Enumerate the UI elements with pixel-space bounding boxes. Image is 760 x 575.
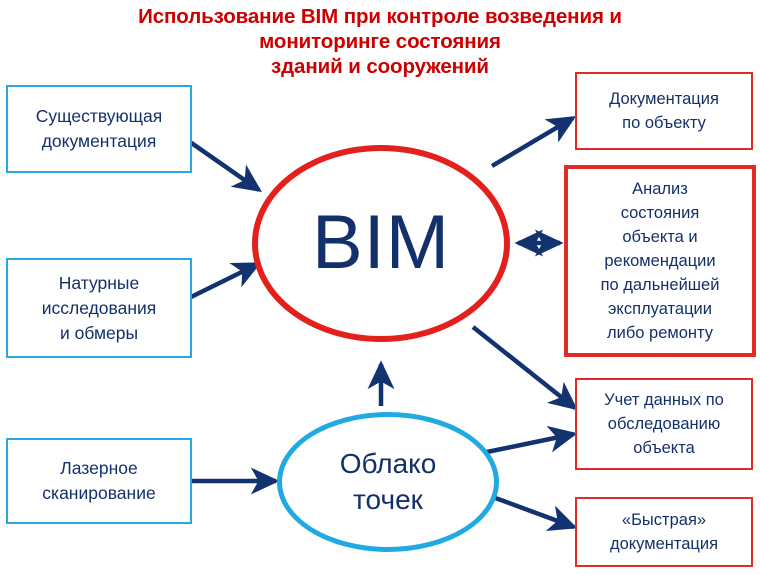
title-line-1: Использование BIM при контроле возведени… <box>60 4 700 29</box>
input-box-laser-scanning-label: Лазерное сканирование <box>42 456 155 506</box>
output-box-object-documentation-label: Документация по объекту <box>609 87 719 135</box>
page-title: Использование BIM при контроле возведени… <box>60 4 700 79</box>
output-box-condition-analysis-label: Анализ состояния объекта и рекомендации … <box>601 177 720 345</box>
output-box-survey-data-accounting-label: Учет данных по обследованию объекта <box>604 388 724 460</box>
arrow-bim-to-survey-data <box>473 327 575 408</box>
output-box-object-documentation[interactable]: Документация по объекту <box>575 72 753 150</box>
arrow-cloud-to-quick-documentation <box>490 496 574 527</box>
input-box-field-research[interactable]: Натурные исследования и обмеры <box>6 258 192 358</box>
arrow-cloud-to-survey-data <box>487 434 574 452</box>
output-box-quick-documentation-label: «Быстрая» документация <box>610 508 718 556</box>
central-node-bim-label: BIM <box>312 205 450 281</box>
input-box-existing-documentation-label: Существующая документация <box>36 104 162 154</box>
output-box-survey-data-accounting[interactable]: Учет данных по обследованию объекта <box>575 378 753 470</box>
arrow-existing-docs-to-bim <box>190 142 259 190</box>
central-node-bim[interactable]: BIM <box>252 145 510 342</box>
input-box-field-research-label: Натурные исследования и обмеры <box>42 271 157 346</box>
node-point-cloud-label: Облако точек <box>340 446 437 518</box>
output-box-condition-analysis[interactable]: Анализ состояния объекта и рекомендации … <box>564 165 756 357</box>
input-box-existing-documentation[interactable]: Существующая документация <box>6 85 192 173</box>
diagram-canvas: Использование BIM при контроле возведени… <box>0 0 760 575</box>
output-box-quick-documentation[interactable]: «Быстрая» документация <box>575 497 753 567</box>
input-box-laser-scanning[interactable]: Лазерное сканирование <box>6 438 192 524</box>
arrow-field-research-to-bim <box>191 264 258 297</box>
arrow-bim-to-object-documentation <box>492 118 573 166</box>
node-point-cloud[interactable]: Облако точек <box>277 412 499 552</box>
title-line-2: мониторинге состояния <box>60 29 700 54</box>
